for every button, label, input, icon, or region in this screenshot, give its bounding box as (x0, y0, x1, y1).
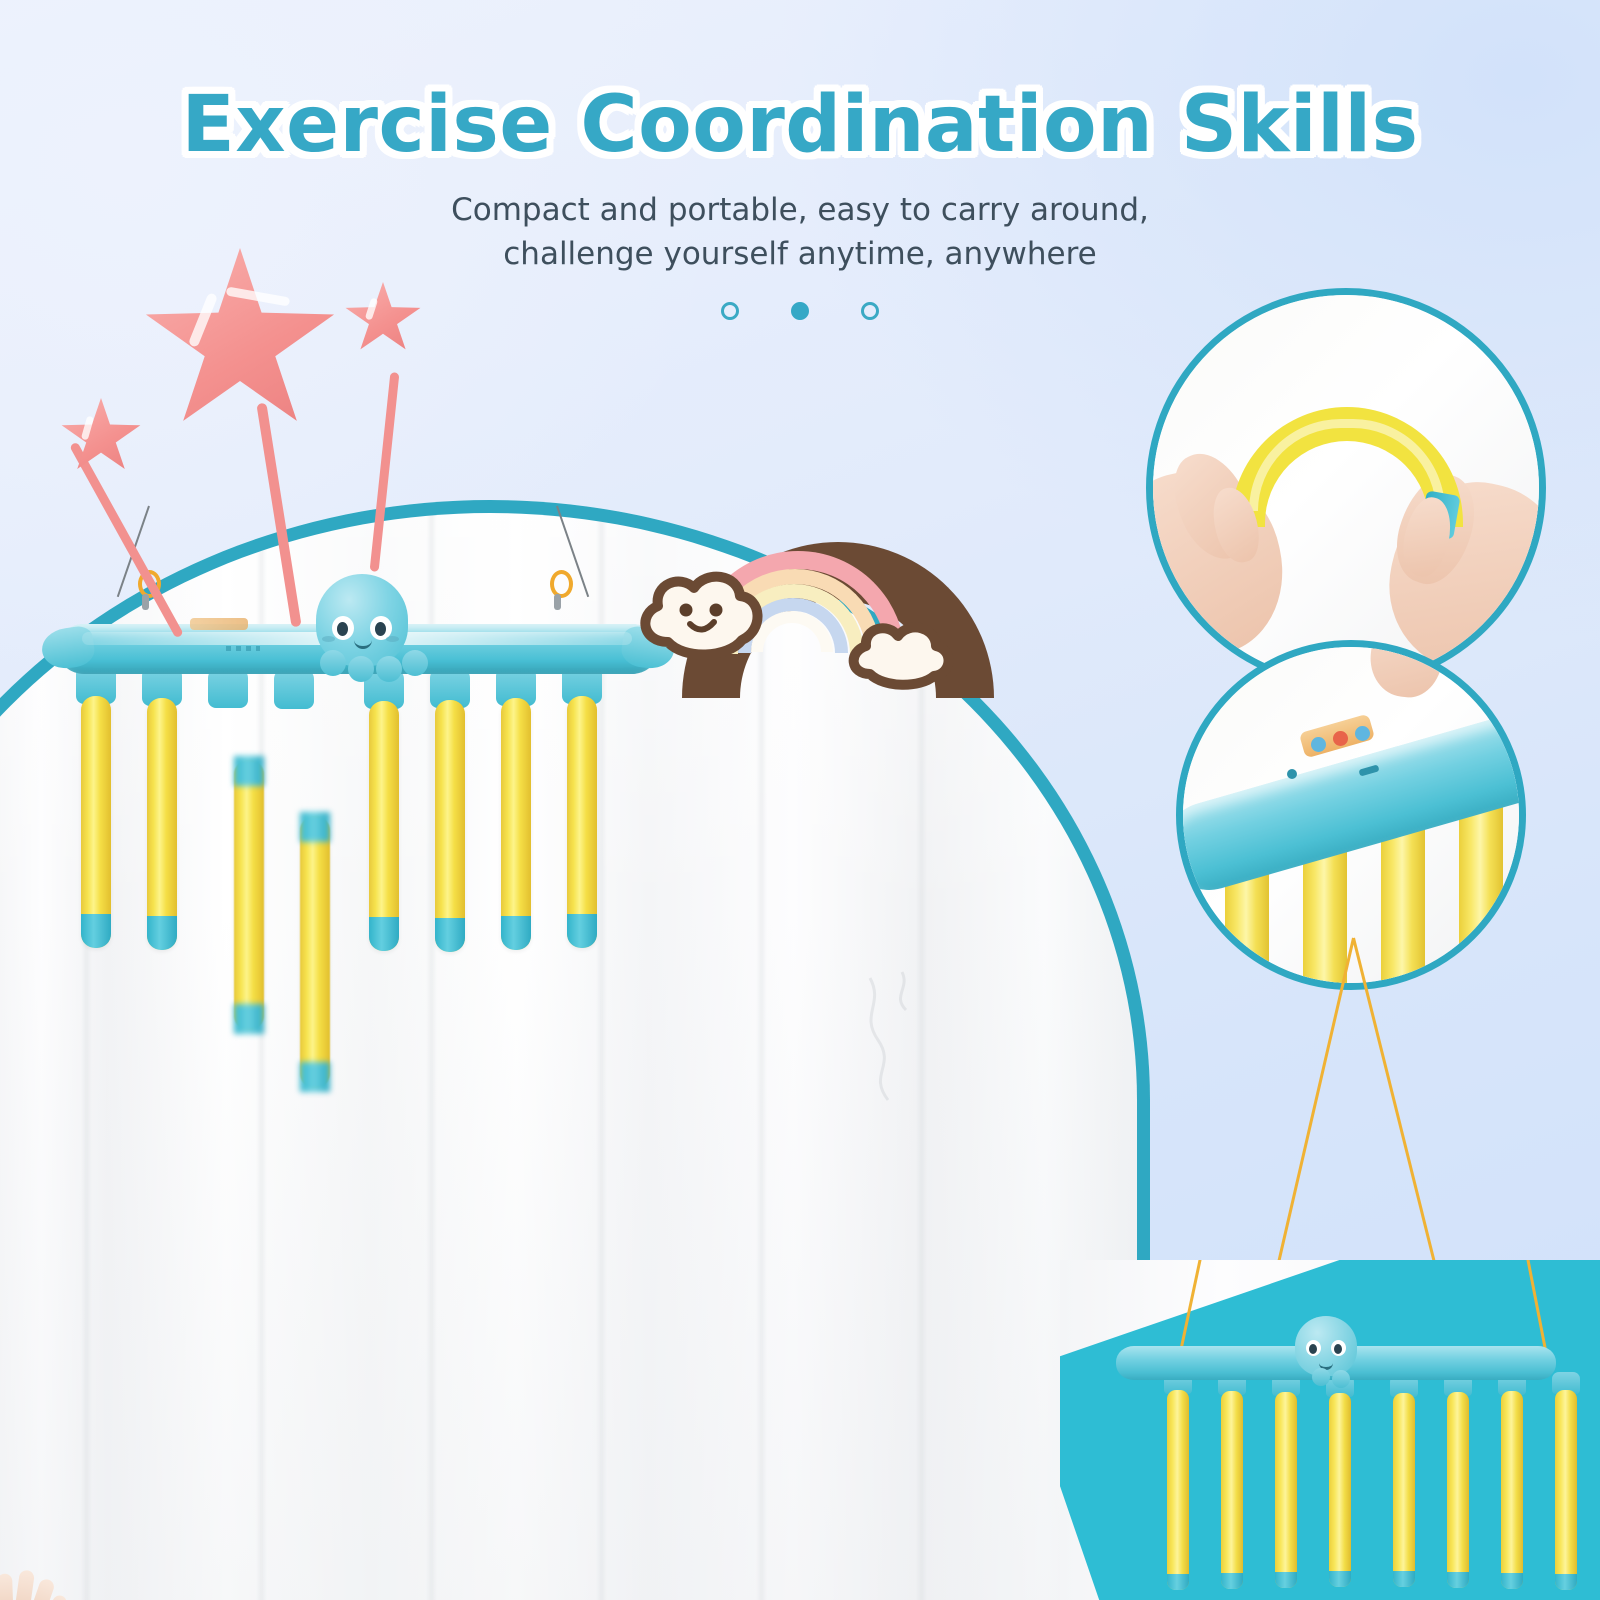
banner-stage: Exercise Coordination Skills Compact and… (0, 0, 1600, 1600)
br-stick-6 (1447, 1392, 1469, 1588)
control-panel (190, 618, 248, 630)
cloud-face-icon (632, 556, 782, 671)
stick-7 (501, 698, 531, 950)
falling-stick-2 (300, 816, 330, 1088)
subtitle-line-1: Compact and portable, easy to carry arou… (250, 188, 1350, 232)
product-octopus-bar-main (38, 568, 678, 1028)
wall-mark (840, 970, 960, 1110)
mode-button-icon (1333, 731, 1348, 746)
cord-ring-right (550, 570, 573, 598)
power-button-icon (1311, 737, 1326, 752)
br-stick-5 (1393, 1393, 1415, 1587)
pagination-dot-1[interactable] (721, 302, 739, 320)
page-subtitle: Compact and portable, easy to carry arou… (250, 188, 1350, 276)
br-stick-7 (1501, 1391, 1523, 1589)
cord-clip-right (554, 594, 561, 610)
br-stick-8 (1555, 1390, 1577, 1590)
falling-stick-1 (234, 760, 264, 1030)
connector-cord-right (1352, 938, 1444, 1296)
star-small-left (60, 398, 142, 476)
girl-left-hand (0, 1594, 64, 1600)
br-stick-3 (1275, 1392, 1297, 1588)
bottom-product-shot (1060, 1260, 1600, 1600)
pagination-dot-3[interactable] (861, 302, 879, 320)
stick-1 (81, 696, 111, 948)
stick-6 (435, 700, 465, 952)
speaker-hole-icon (1287, 769, 1297, 779)
cloud-small-icon (840, 606, 960, 698)
child-girl (0, 1560, 480, 1600)
br-stick-2 (1221, 1391, 1243, 1589)
stick-8 (567, 696, 597, 948)
cord-clip-left (142, 594, 149, 610)
subtitle-line-2: challenge yourself anytime, anywhere (250, 232, 1350, 276)
speaker-grille-icon (226, 646, 260, 651)
connector-cord-left (1269, 938, 1355, 1297)
br-stick-4 (1329, 1393, 1351, 1587)
br-stick-1 (1167, 1390, 1189, 1590)
pagination-dot-2-active[interactable] (791, 302, 809, 320)
decor-rainbow-cloud (672, 528, 952, 698)
br-octopus-head (1295, 1316, 1357, 1376)
volume-button-icon (1355, 726, 1370, 741)
stick-5 (369, 701, 399, 951)
page-title: Exercise Coordination Skills (0, 0, 1600, 170)
inset-flexible-stick (1146, 288, 1546, 688)
stick-2 (147, 698, 177, 950)
